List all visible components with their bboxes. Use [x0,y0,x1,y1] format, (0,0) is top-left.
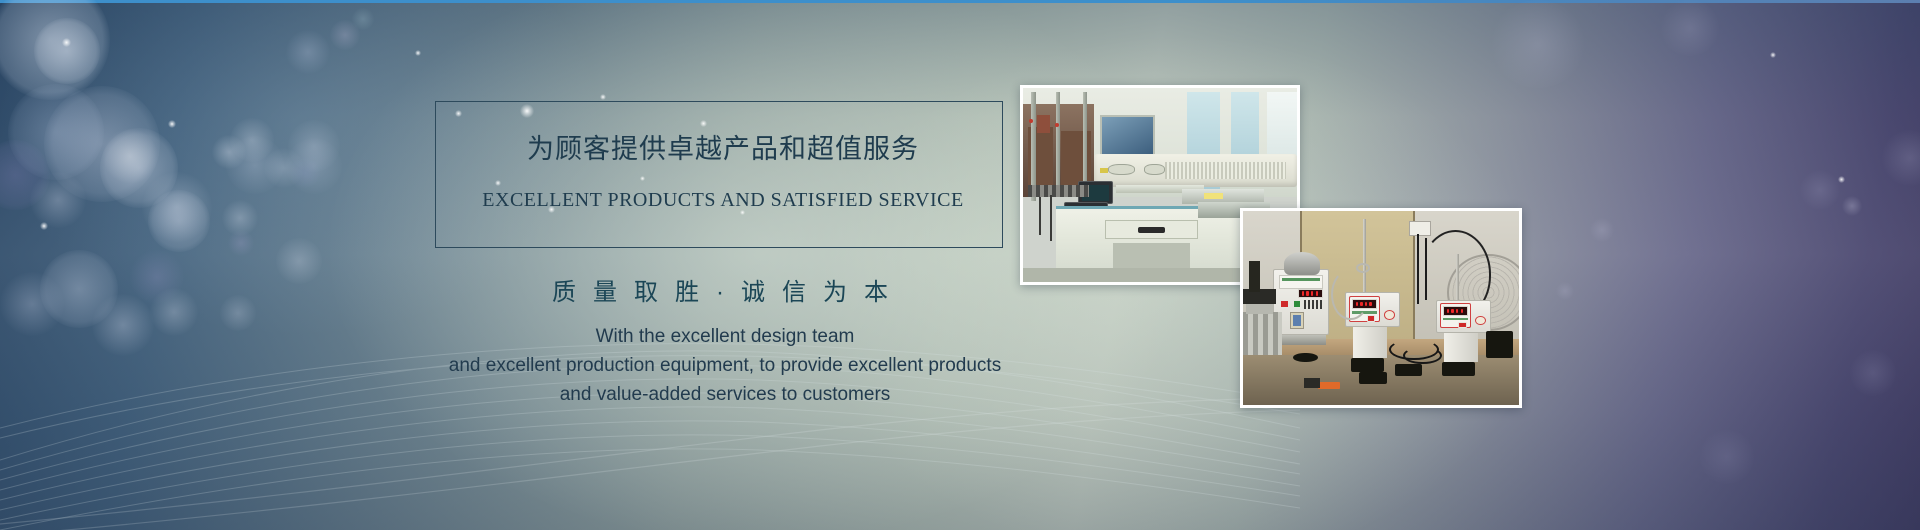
promo-banner: 为顾客提供卓越产品和超值服务 EXCELLENT PRODUCTS AND SA… [0,0,1920,530]
slogan-frame [435,101,1003,248]
slogan-subtitle-en: EXCELLENT PRODUCTS AND SATISFIED SERVICE [473,189,973,212]
company-motto: 质量取胜·诚信为本 [455,272,985,307]
page-title: 为顾客提供卓越产品和超值服务 [498,127,948,166]
description-line-3: and value-added services to customers [330,380,1120,409]
photo-press-machines [1240,208,1522,408]
description-line-1: With the excellent design team [330,322,1120,351]
top-accent-rule [0,0,1920,3]
photo-press-machines-scene [1243,211,1519,405]
description-paragraph: With the excellent design team and excel… [330,322,1120,409]
description-line-2: and excellent production equipment, to p… [330,351,1120,380]
